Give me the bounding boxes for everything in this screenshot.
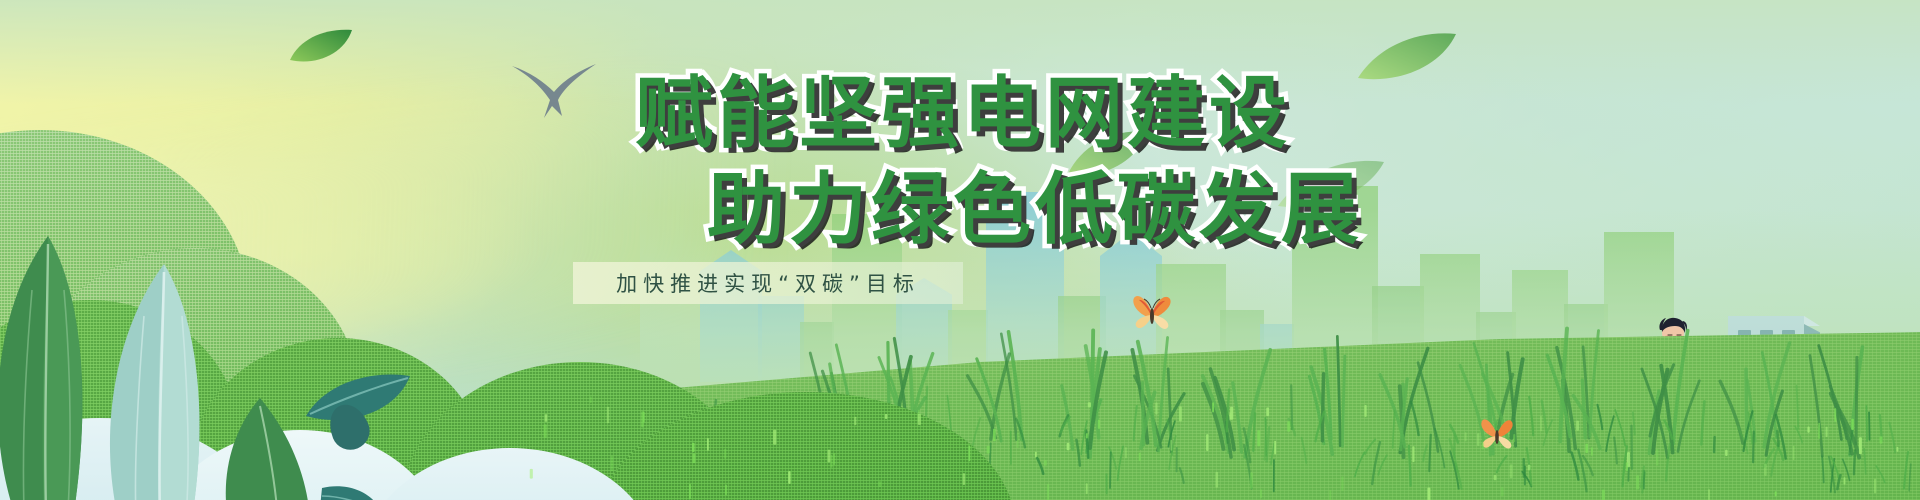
grass-fleck — [1212, 402, 1214, 412]
grass-fleck — [1844, 477, 1846, 484]
grass-fleck — [545, 414, 547, 422]
grass-fleck — [1482, 443, 1484, 450]
grass-fleck — [773, 430, 776, 445]
grass-fleck — [993, 429, 996, 442]
grass-fleck — [1067, 443, 1070, 450]
grass-fleck — [1341, 476, 1343, 490]
grass-fleck — [1017, 432, 1019, 448]
grass-fleck — [831, 455, 833, 468]
grass-fleck — [1636, 475, 1639, 489]
subtitle-text: 加快推进实现“双碳”目标 — [616, 268, 920, 298]
grass-fleck — [788, 471, 790, 484]
grass-fleck — [963, 473, 965, 485]
grass-fleck — [987, 446, 990, 454]
leaf-icon — [1062, 126, 1152, 182]
banner-root: 赋能坚强电网建设 助力绿色低碳发展 加快推进实现“双碳”目标 — [0, 0, 1920, 500]
grass-fleck — [854, 417, 856, 426]
grass-fleck — [1656, 449, 1658, 466]
grass-fleck — [1807, 426, 1809, 432]
grass-fleck — [1826, 427, 1828, 437]
grass-fleck — [1896, 447, 1898, 452]
grass-fleck — [1880, 436, 1883, 443]
grass-fleck — [1818, 423, 1820, 439]
grass-fleck — [1230, 407, 1233, 420]
grass-fleck — [590, 396, 592, 403]
grass-fleck — [1591, 447, 1593, 456]
grass-fleck — [725, 484, 727, 495]
grass-fleck — [1626, 462, 1628, 471]
leaf-icon — [1270, 152, 1390, 212]
grass-fleck — [969, 445, 971, 461]
grass-fleck — [918, 414, 921, 425]
grass-fleck — [692, 453, 695, 463]
grass-fleck — [1427, 488, 1430, 500]
grass-fleck — [1510, 464, 1513, 478]
grass-flecks — [0, 300, 1920, 500]
grass-fleck — [611, 456, 613, 471]
grass-fleck — [1874, 479, 1876, 494]
grass-fleck — [1528, 465, 1531, 471]
grass-fleck — [544, 424, 547, 437]
grass-fleck — [1139, 453, 1141, 461]
grass-fleck — [1086, 433, 1088, 438]
grass-fleck — [692, 443, 695, 452]
grass-fleck — [1477, 433, 1479, 446]
grass-fleck — [1513, 434, 1515, 442]
grass-fleck — [724, 449, 726, 459]
grass-fleck — [1793, 446, 1795, 460]
grass-fleck — [833, 453, 835, 465]
grass-fleck — [1155, 403, 1157, 415]
grass-fleck — [1708, 489, 1710, 500]
grass-fleck — [1266, 407, 1269, 416]
grass-fleck — [1260, 489, 1262, 498]
grass-fleck — [1501, 487, 1504, 496]
grass-fleck — [1364, 405, 1366, 417]
grass-fleck — [530, 469, 533, 479]
grass-fleck — [1274, 441, 1276, 455]
grass-fleck — [1216, 472, 1219, 488]
grass-fleck — [1206, 434, 1208, 451]
grass-fleck — [1287, 421, 1290, 432]
grass-fleck — [1775, 491, 1777, 496]
grass-fleck — [1851, 419, 1853, 430]
grass-fleck — [1494, 475, 1497, 480]
grass-fleck — [1576, 421, 1579, 431]
grass-fleck — [1098, 419, 1100, 428]
grass-fleck — [828, 450, 831, 463]
grass-fleck — [1257, 430, 1260, 446]
leaf-icon — [286, 26, 356, 66]
grass-fleck — [1088, 402, 1091, 407]
grass-fleck — [1170, 440, 1172, 451]
grass-fleck — [1250, 472, 1253, 489]
grass-fleck — [607, 407, 609, 423]
grass-fleck — [1086, 483, 1088, 494]
grass-fleck — [885, 414, 888, 419]
grass-fleck — [1329, 490, 1331, 500]
grass-fleck — [1834, 408, 1836, 422]
grass-fleck — [1465, 432, 1467, 441]
grass-fleck — [1044, 460, 1047, 466]
swallow-icon — [504, 58, 600, 122]
grass-fleck — [878, 481, 881, 487]
grass-fleck — [641, 411, 643, 427]
grass-fleck — [1047, 484, 1049, 500]
grass-fleck — [1540, 416, 1542, 432]
grass-fleck — [1725, 450, 1727, 456]
grass-fleck — [1764, 464, 1766, 476]
grass-fleck — [1859, 437, 1862, 454]
grass-fleck — [1179, 406, 1182, 421]
grass-fleck — [1585, 444, 1588, 453]
subtitle-plate: 加快推进实现“双碳”目标 — [573, 262, 963, 304]
grass-fleck — [689, 484, 691, 499]
grass-fleck — [707, 438, 709, 451]
grass-fleck — [1412, 446, 1414, 462]
grass-fleck — [1125, 447, 1127, 458]
grass-fleck — [1602, 490, 1605, 500]
leaf-icon — [1352, 26, 1462, 86]
grass-fleck — [1035, 452, 1037, 458]
